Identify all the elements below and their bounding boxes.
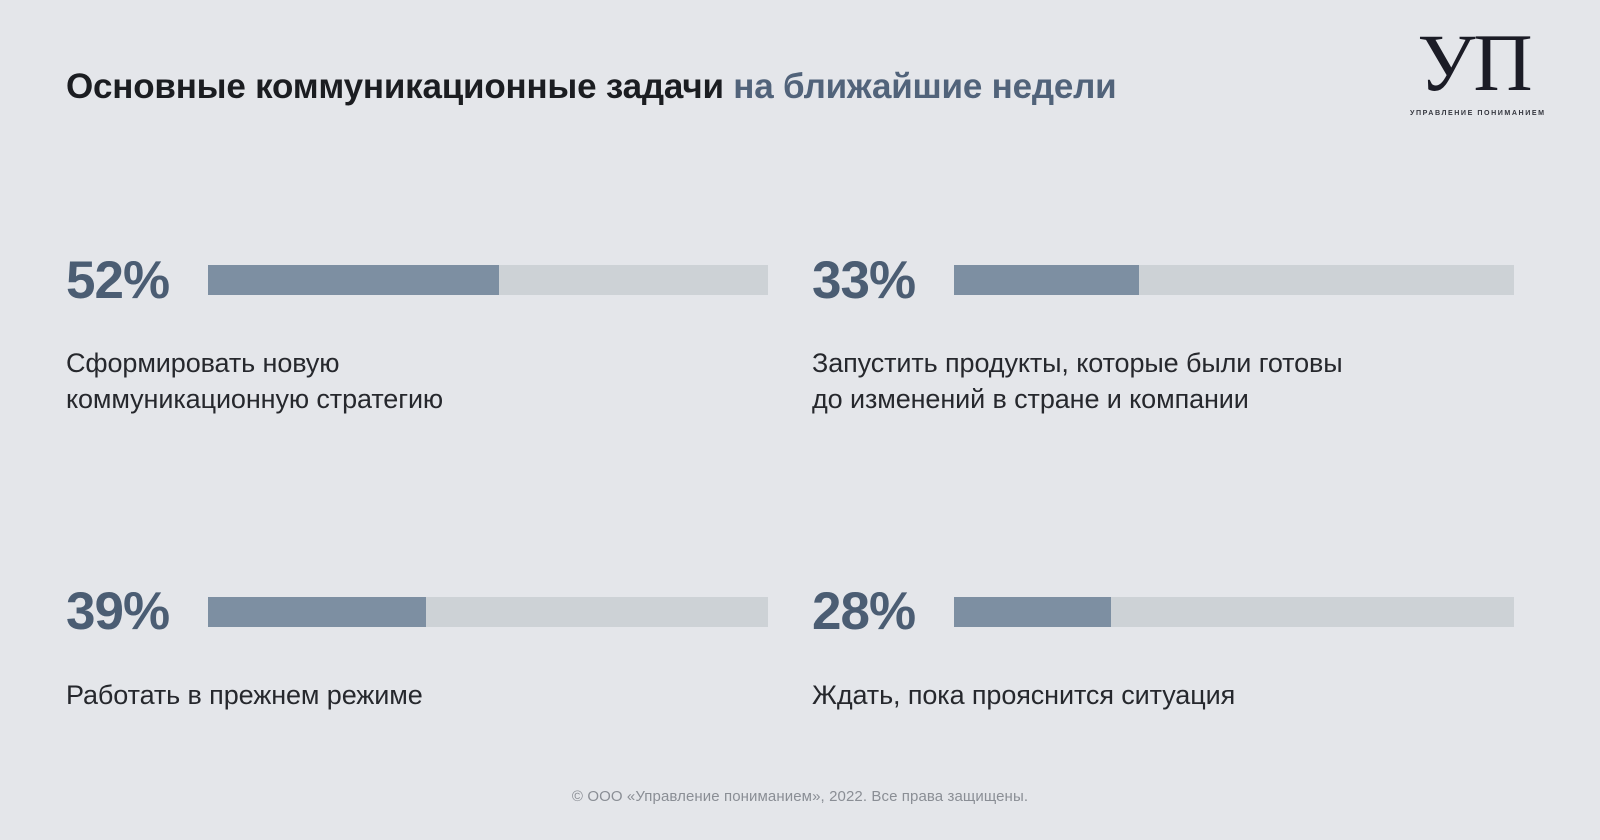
stat-header-2: 39% — [66, 580, 768, 644]
page-title-main: Основные коммуникационные задачи — [66, 67, 724, 106]
footer-copyright: © ООО «Управление пониманием», 2022. Все… — [0, 788, 1600, 805]
page-title-accent: на ближайшие недели — [733, 67, 1116, 106]
page-title: Основные коммуникационные задачи на ближ… — [66, 66, 1540, 108]
progress-bar-2 — [208, 597, 768, 627]
stat-label-1: Запустить продукты, которые были готовы … — [812, 346, 1514, 418]
stat-header-3: 28% — [812, 580, 1514, 644]
stat-percent-1: 33% — [812, 254, 954, 307]
progress-bar-fill-0 — [208, 265, 499, 295]
stats-grid: 52% Сформировать новую коммуникационную … — [66, 248, 1538, 714]
progress-bar-0 — [208, 265, 768, 295]
stat-card-2: 39% Работать в прежнем режиме — [66, 580, 768, 714]
logo-mark: УП — [1410, 24, 1538, 102]
header: Основные коммуникационные задачи на ближ… — [66, 66, 1540, 146]
stat-card-3: 28% Ждать, пока прояснится ситуация — [812, 580, 1514, 714]
logo: УП УПРАВЛЕНИЕ ПОНИМАНИЕМ — [1410, 24, 1538, 117]
stat-label-3: Ждать, пока прояснится ситуация — [812, 678, 1514, 714]
stat-label-0: Сформировать новую коммуникационную стра… — [66, 346, 768, 418]
stat-card-1: 33% Запустить продукты, которые были гот… — [812, 248, 1514, 418]
progress-bar-3 — [954, 597, 1514, 627]
stats-row-2: 39% Работать в прежнем режиме 28% Ждать,… — [66, 580, 1538, 714]
progress-bar-fill-3 — [954, 597, 1111, 627]
stat-card-0: 52% Сформировать новую коммуникационную … — [66, 248, 768, 418]
stat-percent-0: 52% — [66, 254, 208, 307]
stat-percent-2: 39% — [66, 585, 208, 638]
stat-header-0: 52% — [66, 248, 768, 312]
progress-bar-1 — [954, 265, 1514, 295]
stat-label-2: Работать в прежнем режиме — [66, 678, 768, 714]
progress-bar-fill-2 — [208, 597, 426, 627]
stat-percent-3: 28% — [812, 585, 954, 638]
infographic-slide: Основные коммуникационные задачи на ближ… — [0, 0, 1600, 840]
logo-tagline: УПРАВЛЕНИЕ ПОНИМАНИЕМ — [1410, 109, 1538, 117]
stat-header-1: 33% — [812, 248, 1514, 312]
stats-row-1: 52% Сформировать новую коммуникационную … — [66, 248, 1538, 418]
progress-bar-fill-1 — [954, 265, 1139, 295]
